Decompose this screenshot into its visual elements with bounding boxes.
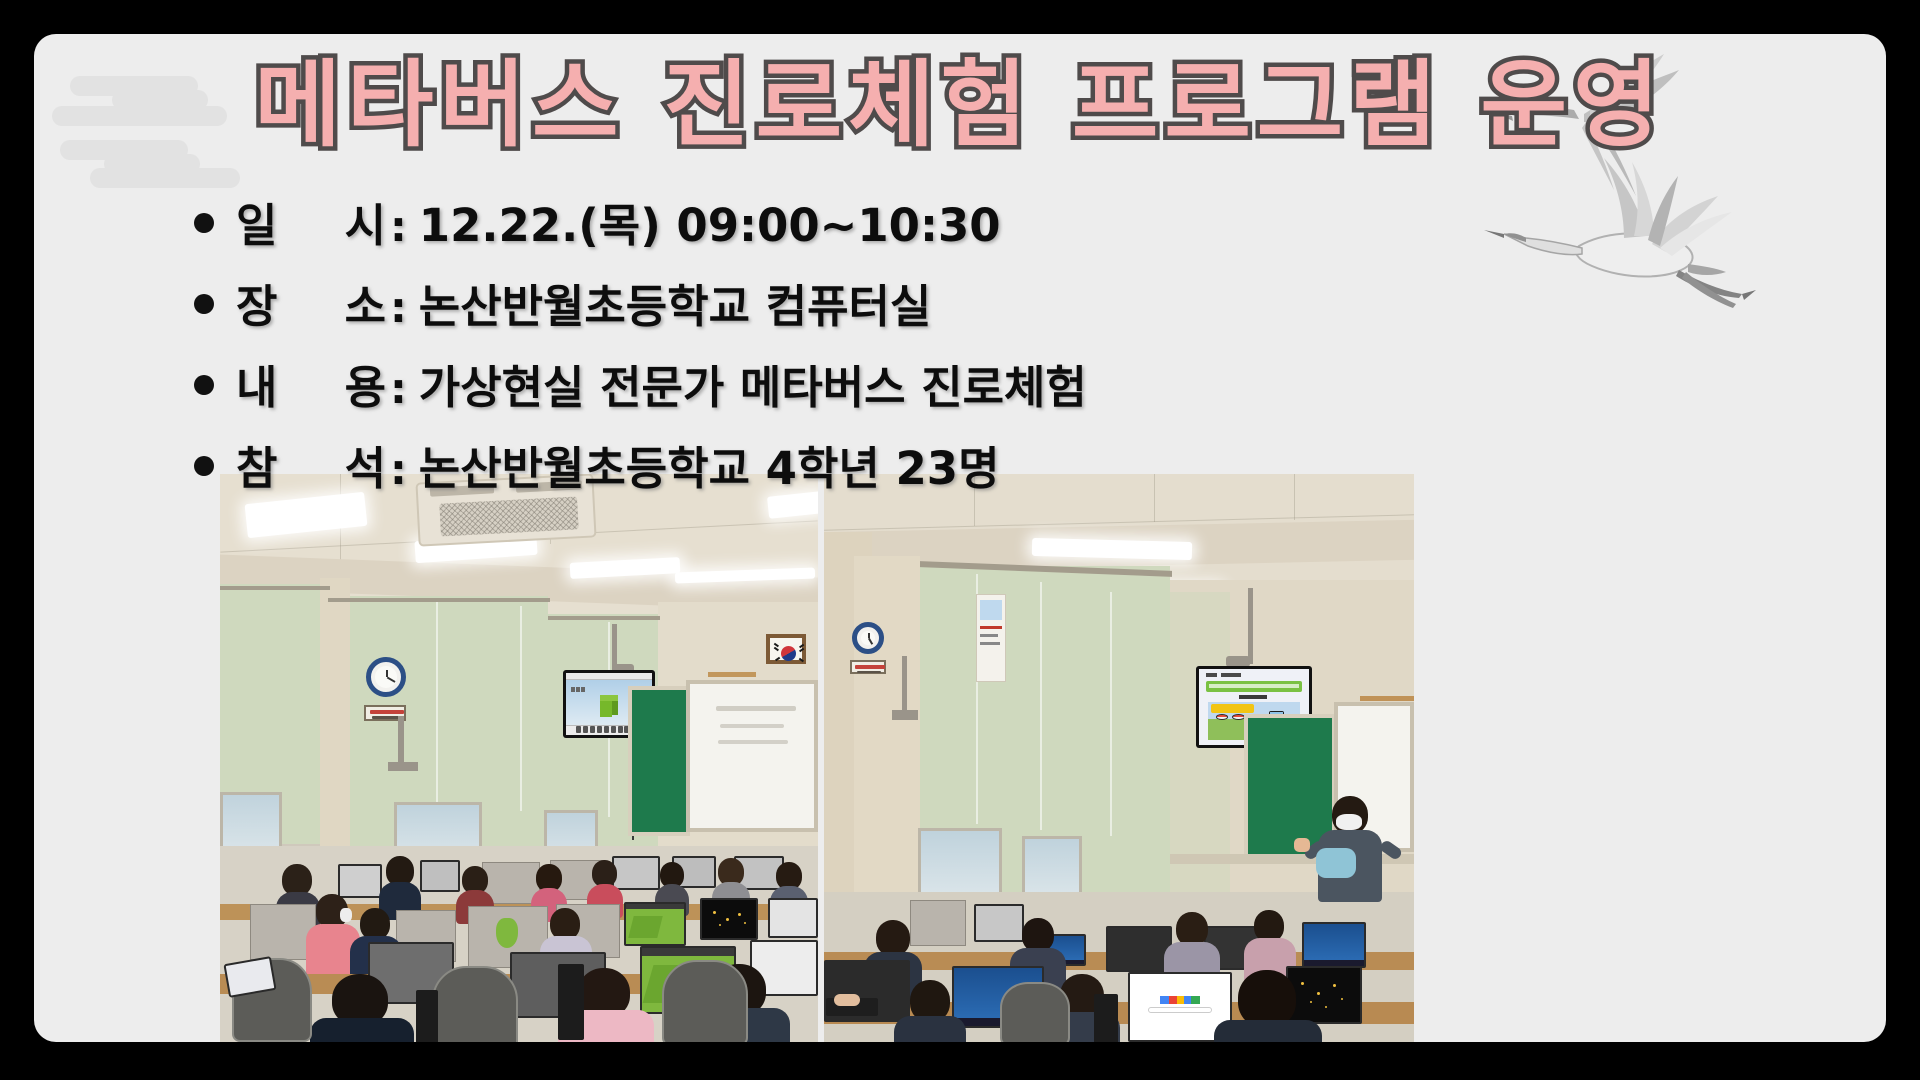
bullet-value: 가상현실 전문가 메타버스 진로체험 bbox=[419, 351, 1087, 416]
bullet-label-b: 용 bbox=[345, 351, 386, 416]
bullet-separator: : bbox=[390, 283, 407, 332]
photo-pair-container bbox=[220, 474, 1414, 1042]
bullet-value: 논산반월초등학교 4학년 23명 bbox=[419, 432, 1000, 497]
bullet-label: 장 소 bbox=[236, 270, 386, 335]
bullet-label: 참 석 bbox=[236, 432, 386, 497]
bullet-separator: : bbox=[390, 445, 407, 494]
bullet-label-b: 석 bbox=[345, 432, 386, 497]
bullet-value: 논산반월초등학교 컴퓨터실 bbox=[419, 270, 931, 335]
screenshot-root: 메타버스 진로체험 프로그램 운영 일 시 : 12.22.(목) 09:00~… bbox=[0, 0, 1920, 1080]
list-item: 내 용 : 가상현실 전문가 메타버스 진로체험 bbox=[194, 351, 1087, 416]
bullet-dot-icon bbox=[194, 213, 214, 233]
bullet-label-a: 장 bbox=[236, 270, 277, 335]
list-item: 일 시 : 12.22.(목) 09:00~10:30 bbox=[194, 189, 1087, 254]
bullet-label-b: 시 bbox=[345, 189, 386, 254]
bullet-value: 12.22.(목) 09:00~10:30 bbox=[419, 189, 1001, 254]
bullet-separator: : bbox=[390, 364, 407, 413]
bullet-label-a: 참 bbox=[236, 432, 277, 497]
bullet-separator: : bbox=[390, 202, 407, 251]
bullet-label: 내 용 bbox=[236, 351, 386, 416]
presentation-slide: 메타버스 진로체험 프로그램 운영 일 시 : 12.22.(목) 09:00~… bbox=[34, 34, 1886, 1042]
wall-clock bbox=[852, 622, 884, 654]
bullet-label-a: 내 bbox=[236, 351, 277, 416]
photo-computer-lab-wide-view bbox=[220, 474, 818, 1042]
bullet-dot-icon bbox=[194, 456, 214, 476]
info-bullet-list: 일 시 : 12.22.(목) 09:00~10:30 장 소 : 논산반월초등… bbox=[194, 189, 1087, 513]
classroom-whiteboard bbox=[686, 680, 818, 832]
bullet-dot-icon bbox=[194, 294, 214, 314]
crane-illustration-lower bbox=[1474, 134, 1774, 314]
page-title: 메타버스 진로체험 프로그램 운영 bbox=[255, 52, 1666, 160]
photo-computer-lab-presentation-view bbox=[824, 474, 1414, 1042]
wall-clock bbox=[366, 657, 406, 697]
bullet-label-a: 일 bbox=[236, 189, 277, 254]
bullet-label: 일 시 bbox=[236, 189, 386, 254]
bullet-label-b: 소 bbox=[345, 270, 386, 335]
classroom-blackboard bbox=[628, 686, 690, 836]
list-item: 참 석 : 논산반월초등학교 4학년 23명 bbox=[194, 432, 1087, 497]
korean-flag bbox=[766, 634, 806, 664]
list-item: 장 소 : 논산반월초등학교 컴퓨터실 bbox=[194, 270, 1087, 335]
slide-title-container: 메타버스 진로체험 프로그램 운영 bbox=[34, 52, 1886, 160]
bullet-dot-icon bbox=[194, 375, 214, 395]
